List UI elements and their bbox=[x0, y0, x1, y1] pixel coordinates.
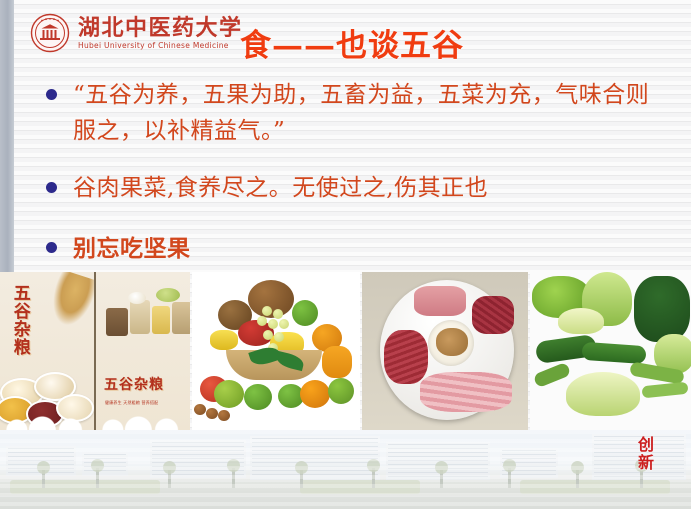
bullet-text: 别忘吃坚果 bbox=[73, 231, 191, 267]
wheat-ear-graphic bbox=[45, 272, 96, 331]
innovation-watermark: 创新 bbox=[635, 436, 653, 472]
meat-platter-photo bbox=[362, 272, 528, 430]
bullet-dot-icon bbox=[46, 242, 57, 253]
bullet-dot-icon bbox=[46, 89, 57, 100]
grain-jars-graphic bbox=[104, 286, 190, 344]
slide: 湖北中医药大学 Hubei University of Chinese Medi… bbox=[0, 0, 691, 509]
bullet-dot-icon bbox=[46, 182, 57, 193]
slide-header: 湖北中医药大学 Hubei University of Chinese Medi… bbox=[30, 8, 243, 58]
campus-footer-photo bbox=[0, 430, 691, 509]
cloud-motif bbox=[96, 414, 190, 430]
grain-poster-left-caption: 五谷杂粮 bbox=[10, 284, 29, 356]
list-item: 谷肉果菜,食养尽之。无使过之,伤其正也 bbox=[46, 171, 666, 207]
grain-posters-photo: 五谷杂粮 五谷杂粮 bbox=[0, 272, 190, 430]
university-crest-icon bbox=[30, 13, 70, 53]
bullet-text: “五谷为养，五果为助，五畜为益，五菜为充，气味合则服之，以补精益气。” bbox=[73, 78, 666, 149]
grain-poster-left: 五谷杂粮 bbox=[0, 272, 96, 430]
bullet-text: 谷肉果菜,食养尽之。无使过之,伤其正也 bbox=[73, 171, 488, 207]
grain-poster-right-caption: 五谷杂粮 bbox=[104, 374, 164, 394]
university-name-block: 湖北中医药大学 Hubei University of Chinese Medi… bbox=[78, 17, 243, 50]
page-title: 食——也谈五谷 bbox=[240, 20, 464, 65]
university-name-cn: 湖北中医药大学 bbox=[78, 17, 243, 39]
photo-strip: 五谷杂粮 五谷杂粮 bbox=[0, 272, 691, 430]
bullet-list: “五谷为养，五果为助，五畜为益，五菜为充，气味合则服之，以补精益气。” 谷肉果菜… bbox=[46, 78, 666, 267]
green-vegetables-photo bbox=[530, 272, 691, 430]
university-name-en: Hubei University of Chinese Medicine bbox=[78, 42, 243, 50]
list-item: 别忘吃坚果 bbox=[46, 231, 666, 267]
list-item: “五谷为养，五果为助，五畜为益，五菜为充，气味合则服之，以补精益气。” bbox=[46, 78, 666, 149]
footer-stripe-overlay bbox=[0, 430, 691, 509]
grain-poster-right: 五谷杂粮 健康养生 天然粗粮 营养搭配 bbox=[96, 272, 190, 430]
fruit-bowl-photo bbox=[192, 272, 360, 430]
cloud-motif bbox=[0, 414, 94, 430]
grain-poster-subcaption: 健康养生 天然粗粮 营养搭配 bbox=[105, 400, 158, 406]
